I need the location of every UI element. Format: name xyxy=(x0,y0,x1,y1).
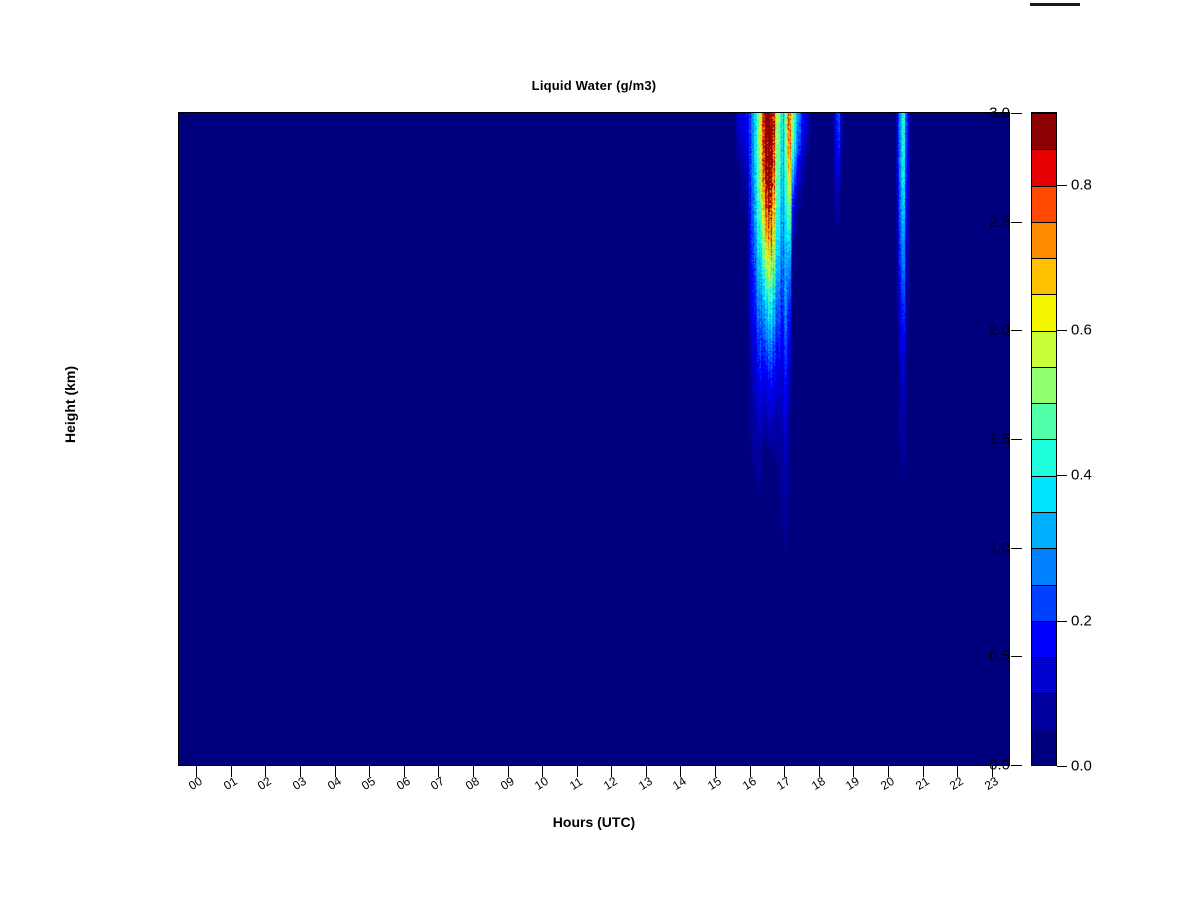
x-tick-label: 17 xyxy=(774,774,793,793)
x-tick-label: 00 xyxy=(186,774,205,793)
y-tick-label: 0.5 xyxy=(989,648,1010,665)
colorbar-band-12 xyxy=(1032,294,1056,330)
x-tick-label: 12 xyxy=(601,774,620,793)
y-tick-mark xyxy=(1011,439,1022,440)
y-tick-mark xyxy=(1011,765,1022,766)
colorbar-band-10 xyxy=(1032,367,1056,403)
top-edge-artifact xyxy=(1030,3,1080,6)
colorbar-tick-mark xyxy=(1057,475,1067,476)
chart-title: Liquid Water (g/m3) xyxy=(178,78,1010,93)
y-tick-mark xyxy=(1011,113,1022,114)
x-tick-label: 03 xyxy=(290,774,309,793)
x-tick-label: 07 xyxy=(428,774,447,793)
y-tick-mark xyxy=(1011,656,1022,657)
colorbar-tick-label: 0.4 xyxy=(1071,467,1092,484)
colorbar-band-3 xyxy=(1032,621,1056,657)
colorbar-tick-label: 0.2 xyxy=(1071,612,1092,629)
colorbar-band-14 xyxy=(1032,222,1056,258)
colorbar-tick-mark xyxy=(1057,330,1067,331)
colorbar-band-11 xyxy=(1032,331,1056,367)
colorbar-band-17 xyxy=(1032,113,1056,149)
colorbar xyxy=(1031,112,1057,766)
colorbar-tick-mark xyxy=(1057,185,1067,186)
colorbar-band-7 xyxy=(1032,476,1056,512)
x-tick-label: 09 xyxy=(498,774,517,793)
y-tick-label: 1.5 xyxy=(989,431,1010,448)
x-tick-label: 19 xyxy=(843,774,862,793)
y-tick-label: 3.0 xyxy=(989,105,1010,122)
y-axis xyxy=(0,0,178,900)
x-tick-label: 02 xyxy=(255,774,274,793)
x-tick-label: 16 xyxy=(740,774,759,793)
colorbar-band-9 xyxy=(1032,403,1056,439)
figure-canvas: Liquid Water (g/m3) Height (km) Hours (U… xyxy=(0,0,1200,900)
x-tick-label: 05 xyxy=(359,774,378,793)
heatmap-image xyxy=(179,113,1009,765)
y-axis-label: Height (km) xyxy=(62,366,78,443)
colorbar-tick-label: 0.6 xyxy=(1071,322,1092,339)
colorbar-band-13 xyxy=(1032,258,1056,294)
x-tick-label: 18 xyxy=(809,774,828,793)
colorbar-band-8 xyxy=(1032,439,1056,475)
colorbar-band-5 xyxy=(1032,548,1056,584)
y-tick-label: 2.0 xyxy=(989,322,1010,339)
x-tick-label: 15 xyxy=(705,774,724,793)
colorbar-band-6 xyxy=(1032,512,1056,548)
x-tick-label: 14 xyxy=(670,774,689,793)
x-tick-label: 06 xyxy=(394,774,413,793)
colorbar-band-1 xyxy=(1032,693,1056,729)
colorbar-tick-mark xyxy=(1057,766,1067,767)
y-tick-label: 2.5 xyxy=(989,213,1010,230)
x-tick-label: 10 xyxy=(532,774,551,793)
x-axis-label: Hours (UTC) xyxy=(178,814,1010,830)
heatmap-plot-area xyxy=(178,112,1010,766)
colorbar-tick-label: 0.8 xyxy=(1071,176,1092,193)
colorbar-tick-mark xyxy=(1057,621,1067,622)
y-tick-mark xyxy=(1011,548,1022,549)
colorbar-tick-label: 0.0 xyxy=(1071,758,1092,775)
x-tick-label: 01 xyxy=(221,774,240,793)
colorbar-band-16 xyxy=(1032,149,1056,185)
x-tick-label: 04 xyxy=(325,774,344,793)
y-tick-mark xyxy=(1011,222,1022,223)
x-tick-label: 21 xyxy=(913,774,932,793)
x-tick-label: 13 xyxy=(636,774,655,793)
x-tick-label: 23 xyxy=(982,774,1001,793)
y-tick-mark xyxy=(1011,330,1022,331)
colorbar-band-15 xyxy=(1032,186,1056,222)
x-tick-label: 22 xyxy=(947,774,966,793)
x-tick-label: 20 xyxy=(878,774,897,793)
colorbar-band-4 xyxy=(1032,585,1056,621)
y-tick-label: 1.0 xyxy=(989,539,1010,556)
colorbar-band-0 xyxy=(1032,730,1056,765)
x-tick-label: 11 xyxy=(567,774,585,792)
x-tick-label: 08 xyxy=(463,774,482,793)
colorbar-band-2 xyxy=(1032,657,1056,693)
